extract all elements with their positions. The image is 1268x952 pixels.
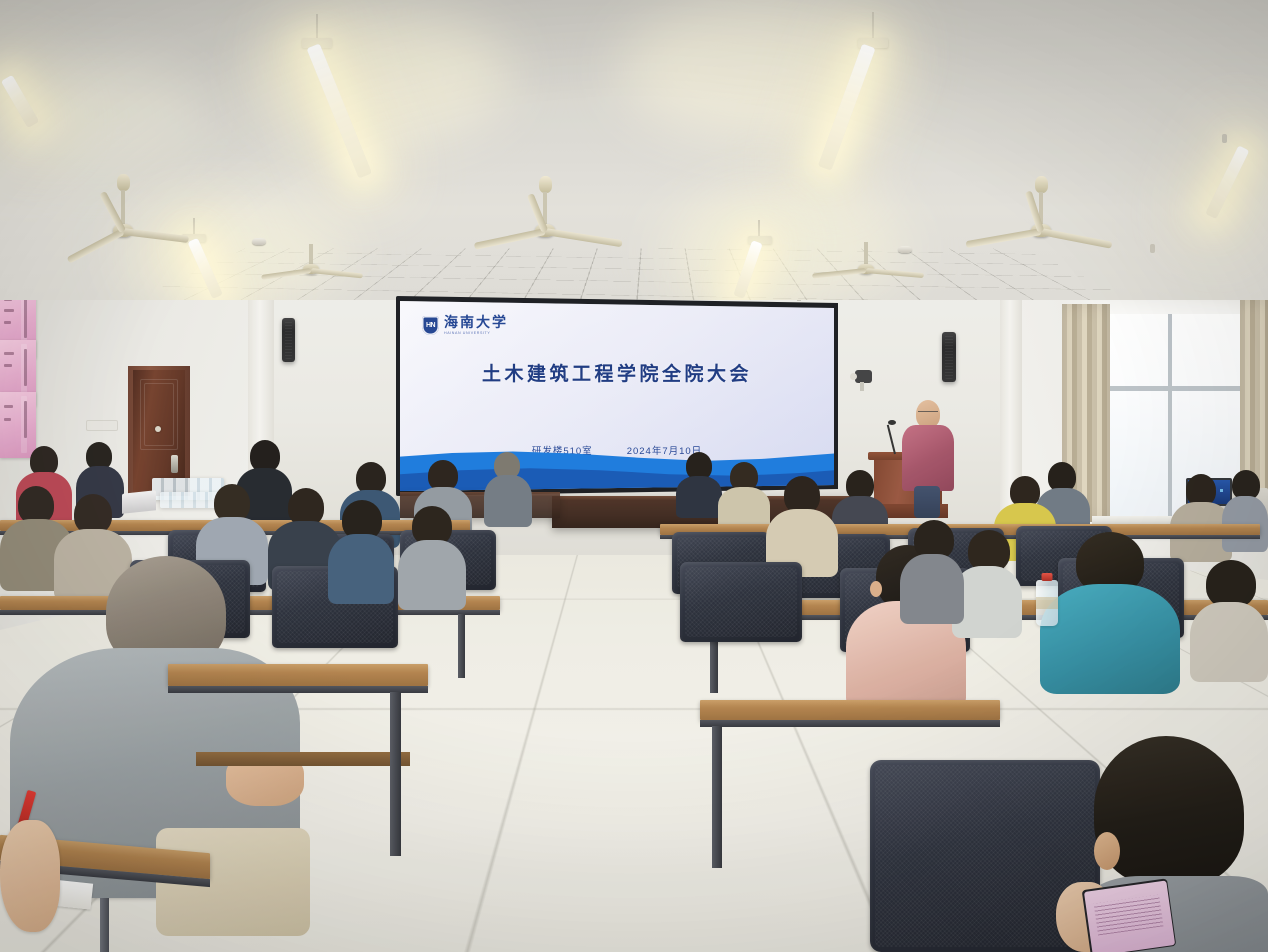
poster-text-line (4, 309, 14, 312)
bottle-label (1036, 597, 1058, 608)
chair[interactable] (680, 562, 802, 642)
ceiling-tile-grid (0, 249, 1268, 300)
poster-text-line (24, 349, 27, 386)
ceiling-tube-light (1205, 145, 1249, 219)
desk-row (700, 700, 1000, 840)
desk-surface (700, 700, 1000, 720)
door-handle[interactable] (171, 455, 178, 473)
attendee-torso (398, 540, 466, 610)
presenter-legs (914, 486, 940, 518)
ceiling-fan (470, 178, 620, 240)
attendee (484, 452, 532, 524)
fan-blade (966, 228, 1042, 248)
wall-speaker-left (282, 318, 295, 362)
fan-blade (261, 268, 311, 280)
desk-leg (390, 692, 401, 856)
attendee (398, 506, 466, 598)
ceiling-fan (58, 176, 188, 236)
desk-leg (712, 726, 722, 868)
fan-blade (474, 228, 546, 250)
attendee (766, 476, 838, 572)
ceiling (0, 0, 1268, 300)
attendee-torso (328, 534, 394, 604)
fan-rod (309, 244, 313, 266)
university-logo: HN 海南大学 HAINAN UNIVERSITY (422, 315, 508, 335)
attendee-torso (1190, 602, 1268, 682)
desk-shelf (196, 752, 410, 766)
water-bottle[interactable] (1036, 580, 1058, 626)
ceiling-fan (966, 178, 1116, 240)
fan-blade (67, 228, 125, 263)
window-mullion-horizontal (1100, 386, 1250, 391)
attendee (676, 452, 722, 512)
fan-blade (1040, 228, 1112, 249)
smoke-detector-icon (898, 246, 912, 253)
attendee-torso (484, 475, 532, 527)
attendee-ear (1094, 832, 1120, 870)
fan-blade (311, 268, 363, 278)
ceiling-tube-light (307, 43, 372, 178)
attendee (900, 520, 964, 612)
chair-mesh (685, 567, 797, 637)
ceiling-tube-light (1, 75, 39, 128)
light-rod (316, 14, 318, 40)
bottle-cap (1042, 573, 1053, 581)
presenter-torso (902, 425, 954, 491)
attendee (718, 462, 770, 524)
sprinkler-icon (1222, 134, 1227, 143)
smartphone[interactable] (1082, 878, 1177, 952)
slide-title: 土木建筑工程学院全院大会 (400, 359, 834, 386)
poster-text-line (4, 321, 10, 324)
logo-text-cn: 海南大学 (444, 315, 508, 329)
presenter (896, 400, 958, 510)
fan-blade (812, 268, 866, 279)
attendee-torso (676, 476, 722, 518)
poster-text-line (4, 364, 11, 367)
ceiling-fan (256, 244, 366, 292)
poster-text-line (24, 296, 27, 338)
attendee-ear (870, 581, 882, 597)
light-glow (250, 10, 510, 140)
poster-text-line (4, 418, 10, 421)
fan-canopy (1035, 176, 1048, 193)
fan-canopy (117, 174, 130, 191)
attendee (1190, 560, 1268, 670)
sprinkler-icon (1150, 244, 1155, 253)
door-peephole (155, 426, 161, 432)
hand-holding-pen (0, 820, 60, 932)
shield-glyph: HN (426, 322, 435, 329)
attendee-torso (900, 554, 964, 624)
fan-canopy (539, 176, 552, 193)
shield-icon: HN (422, 316, 439, 335)
wall-notice (86, 420, 118, 431)
poster-text-line (24, 401, 27, 438)
meeting-room-photo: HN 海南大学 HAINAN UNIVERSITY 土木建筑工程学院全院大会 研… (0, 0, 1268, 952)
wall-speaker-right (942, 332, 956, 382)
fan-blade (544, 228, 622, 247)
phone-screen (1083, 880, 1174, 952)
attendee-head (74, 494, 112, 534)
desk-foreground-left (168, 664, 428, 834)
smoke-detector-icon (252, 238, 266, 245)
fan-rod (864, 242, 868, 266)
attendee (328, 500, 394, 592)
attendee-torso (1040, 584, 1180, 694)
attendee-head (1206, 560, 1256, 608)
door-panel (144, 383, 174, 446)
desk-leg (458, 614, 465, 678)
chair-backrest (680, 562, 802, 642)
ceiling-tube-light (818, 44, 876, 171)
desk-surface (168, 664, 428, 686)
poster-text-line (4, 405, 13, 408)
fan-blade (866, 268, 924, 278)
poster-text-line (4, 352, 13, 355)
fan-blade (123, 228, 189, 243)
microphone-icon (888, 420, 896, 425)
logo-text-en: HAINAN UNIVERSITY (444, 331, 508, 335)
presenter-glasses-icon (918, 411, 938, 416)
desk-edge (700, 720, 1000, 727)
camera-mount (855, 370, 872, 383)
light-rod (872, 12, 874, 40)
desk-edge (168, 686, 428, 693)
attendee (1040, 532, 1180, 672)
